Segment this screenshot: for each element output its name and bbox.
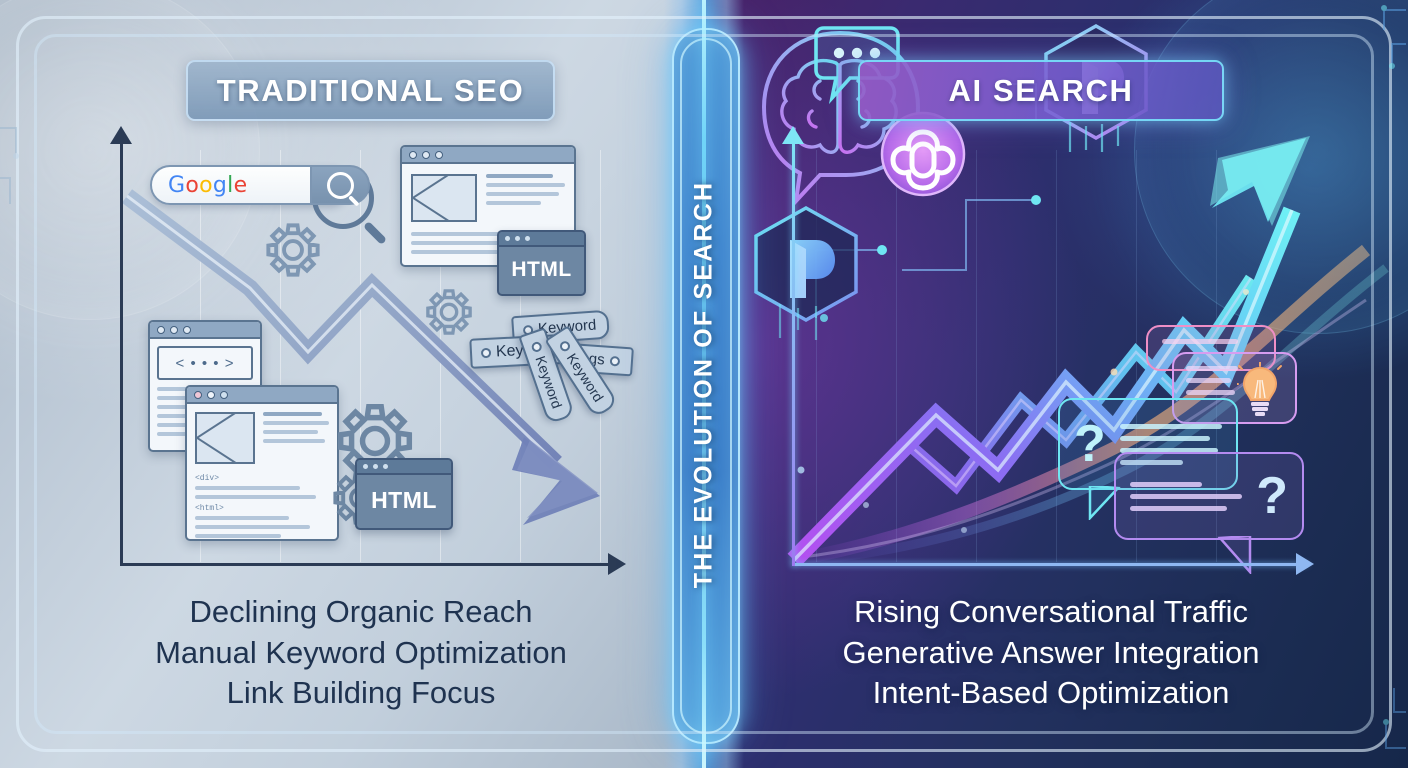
content-window-icon: <div> <html>: [185, 385, 339, 541]
ai-search-title: AI SEARCH: [949, 73, 1134, 109]
divider-label: THE EVOLUTION OF SEARCH: [690, 180, 719, 588]
google-wordmark-letter: g: [213, 173, 227, 198]
x-axis-arrowhead-right: [1296, 553, 1314, 575]
traditional-seo-title-pill: TRADITIONAL SEO: [186, 60, 555, 121]
gridline: [976, 150, 977, 562]
gridline: [1056, 150, 1057, 562]
html-badge-bottom: HTML: [355, 458, 453, 530]
bullet-item: Generative Answer Integration: [786, 633, 1316, 674]
code-window-glyph: < • • • >: [157, 346, 253, 380]
x-axis-arrowhead-left: [608, 553, 626, 575]
google-wordmark-letter: e: [234, 173, 248, 198]
bullet-item: Declining Organic Reach: [96, 592, 626, 633]
html-badge-label: HTML: [357, 475, 451, 526]
ai-search-title-pill: AI SEARCH: [858, 60, 1224, 121]
y-axis-left: [120, 140, 123, 566]
search-icon: [327, 172, 354, 199]
infographic-canvas: Google: [0, 0, 1408, 768]
bullet-item: Link Building Focus: [96, 673, 626, 714]
y-axis-arrowhead-right: [782, 126, 804, 144]
perplexity-hex-icon-2: [746, 200, 866, 340]
google-wordmark: Google: [168, 173, 247, 198]
traditional-seo-title: TRADITIONAL SEO: [217, 73, 525, 109]
circuit-accent-top-right: [1288, 0, 1408, 120]
code-snippet: <div>: [195, 474, 329, 483]
lightbulb-icon: [1237, 362, 1283, 418]
question-mark-glyph: ?: [1074, 418, 1106, 470]
traditional-seo-bullets: Declining Organic Reach Manual Keyword O…: [96, 592, 626, 714]
gear-icon: [265, 222, 321, 278]
google-wordmark-letter: G: [168, 173, 185, 198]
x-axis-right: [792, 563, 1308, 566]
bullet-item: Rising Conversational Traffic: [786, 592, 1316, 633]
circuit-accent-left: [0, 108, 40, 228]
question-bubble-violet: ?: [1114, 452, 1304, 540]
google-wordmark-letter: o: [199, 173, 213, 198]
gear-icon: [425, 288, 473, 336]
html-badge-label: HTML: [499, 247, 584, 292]
google-wordmark-letter: o: [185, 173, 199, 198]
x-axis-left: [120, 563, 620, 566]
code-snippet: <html>: [195, 504, 329, 513]
bullet-item: Manual Keyword Optimization: [96, 633, 626, 674]
question-mark-glyph: ?: [1256, 470, 1288, 522]
html-badge-top: HTML: [497, 230, 586, 296]
bullet-item: Intent-Based Optimization: [786, 673, 1316, 714]
openai-logo-icon: [879, 110, 967, 198]
y-axis-right: [792, 140, 795, 566]
search-button[interactable]: [310, 165, 370, 205]
ai-search-bullets: Rising Conversational Traffic Generative…: [786, 592, 1316, 714]
y-axis-arrowhead-left: [110, 126, 132, 144]
divider-label-wrap: THE EVOLUTION OF SEARCH: [664, 0, 744, 768]
circuit-accent-bottom-right: [1288, 658, 1408, 768]
gridline: [896, 150, 897, 562]
bubble-tail-violet: [1216, 536, 1270, 574]
